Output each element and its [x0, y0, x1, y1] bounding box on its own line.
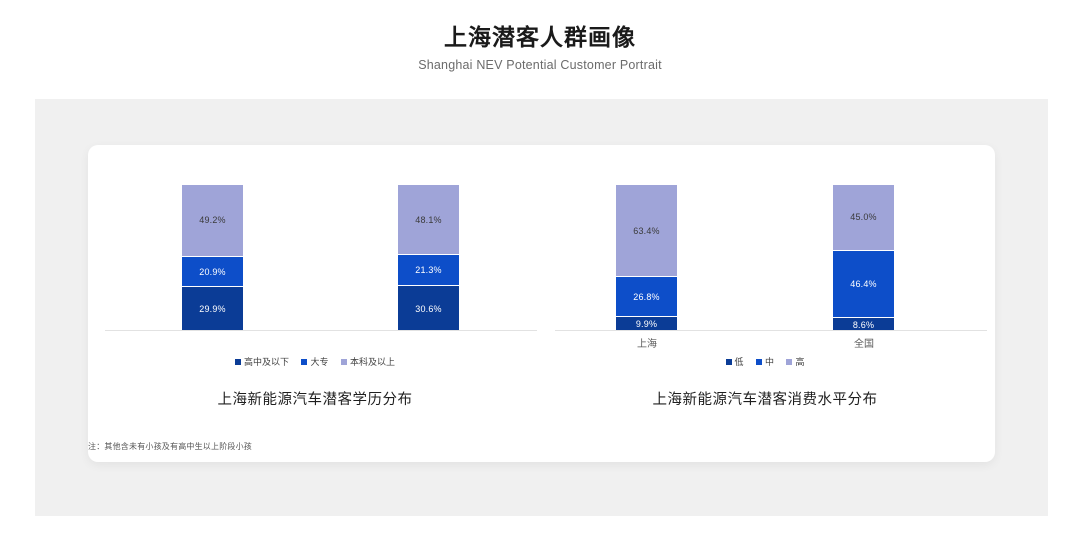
chart-2-legend: 低 中 高 — [545, 353, 985, 371]
page-subtitle: Shanghai NEV Potential Customer Portrait — [0, 55, 1080, 75]
chart-2-bar-2-segment-high[interactable]: 45.0% — [833, 185, 894, 251]
chart-1-legend: 高中及以下 大专 本科及以上 — [95, 353, 535, 371]
charts-row: 49.2% 20.9% 29.9% 48.1% 21.3% — [88, 145, 995, 462]
chart-2-legend-label-low: 低 — [735, 357, 744, 367]
chart-2-legend-item-mid[interactable]: 中 — [756, 355, 774, 368]
chart-1-bar-1-label-high: 49.2% — [199, 215, 226, 225]
chart-1-bar-1-label-low: 29.9% — [199, 304, 226, 314]
chart-1-bar-2-segment-high[interactable]: 48.1% — [398, 185, 459, 255]
chart-consumption-level-distribution: 63.4% 26.8% 9.9% 45.0% 46.4% — [545, 145, 985, 462]
chart-1-bar-2[interactable]: 48.1% 21.3% 30.6% — [398, 185, 459, 331]
chart-1-bar-1-segment-low[interactable]: 29.9% — [182, 287, 243, 331]
chart-1-legend-label-high: 本科及以上 — [350, 357, 395, 367]
chart-1-x-labels — [95, 333, 535, 351]
chart-2-legend-swatch-mid-icon — [756, 359, 762, 365]
chart-1-legend-label-mid: 大专 — [310, 357, 328, 367]
chart-2-bar-1-segment-low[interactable]: 9.9% — [616, 317, 677, 331]
chart-2-legend-label-high: 高 — [795, 357, 804, 367]
charts-card: 49.2% 20.9% 29.9% 48.1% 21.3% — [88, 145, 995, 462]
chart-1-plot-area: 49.2% 20.9% 29.9% 48.1% 21.3% — [95, 185, 535, 331]
chart-2-bar-2-segment-mid[interactable]: 46.4% — [833, 251, 894, 319]
chart-2-bar-1-label-low: 9.9% — [636, 319, 657, 329]
chart-1-bar-2-segment-low[interactable]: 30.6% — [398, 286, 459, 331]
chart-2-bar-1-label-mid: 26.8% — [633, 292, 660, 302]
chart-2-caption: 上海新能源汽车潜客消费水平分布 — [545, 388, 985, 409]
chart-1-legend-swatch-high-icon — [341, 359, 347, 365]
chart-2-bar-1-segment-high[interactable]: 63.4% — [616, 185, 677, 277]
chart-2-bar-1[interactable]: 63.4% 26.8% 9.9% — [616, 185, 677, 331]
chart-2-legend-item-high[interactable]: 高 — [786, 355, 804, 368]
page-title: 上海潜客人群画像 — [0, 22, 1080, 52]
chart-2-plot-area: 63.4% 26.8% 9.9% 45.0% 46.4% — [545, 185, 985, 331]
chart-1-bar-1-segment-high[interactable]: 49.2% — [182, 185, 243, 257]
chart-1-bar-1-segment-mid[interactable]: 20.9% — [182, 257, 243, 288]
chart-2-bar-1-label-high: 63.4% — [633, 226, 660, 236]
chart-1-bar-2-label-high: 48.1% — [415, 215, 442, 225]
chart-1-legend-label-low: 高中及以下 — [244, 357, 289, 367]
chart-2-x-label-shanghai: 上海 — [607, 335, 687, 350]
footnote: 注：其他含未有小孩及有高中生以上阶段小孩 — [88, 441, 252, 452]
chart-2-bar-1-segment-mid[interactable]: 26.8% — [616, 277, 677, 316]
chart-2-x-labels: 上海 全国 — [545, 333, 985, 351]
chart-1-bar-2-segment-mid[interactable]: 21.3% — [398, 255, 459, 286]
chart-2-legend-swatch-high-icon — [786, 359, 792, 365]
chart-2-x-label-national: 全国 — [824, 335, 904, 350]
chart-1-legend-swatch-mid-icon — [301, 359, 307, 365]
chart-2-bar-2-label-low: 8.6% — [853, 320, 874, 330]
chart-1-legend-swatch-low-icon — [235, 359, 241, 365]
page-header: 上海潜客人群画像 Shanghai NEV Potential Customer… — [0, 0, 1080, 75]
chart-2-bar-2-label-mid: 46.4% — [850, 279, 877, 289]
chart-2-bar-2[interactable]: 45.0% 46.4% 8.6% — [833, 185, 894, 331]
chart-1-bar-2-label-mid: 21.3% — [415, 265, 442, 275]
chart-2-axis-line — [555, 330, 987, 331]
chart-2-bar-2-label-high: 45.0% — [850, 212, 877, 222]
chart-1-bar-1-label-mid: 20.9% — [199, 267, 226, 277]
chart-1-legend-item-mid[interactable]: 大专 — [301, 355, 328, 368]
chart-1-legend-item-high[interactable]: 本科及以上 — [341, 355, 395, 368]
chart-1-caption: 上海新能源汽车潜客学历分布 — [95, 388, 535, 409]
chart-2-legend-label-mid: 中 — [765, 357, 774, 367]
chart-2-legend-item-low[interactable]: 低 — [726, 355, 744, 368]
chart-1-axis-line — [105, 330, 537, 331]
chart-education-distribution: 49.2% 20.9% 29.9% 48.1% 21.3% — [95, 145, 535, 462]
chart-1-legend-item-low[interactable]: 高中及以下 — [235, 355, 289, 368]
chart-1-bar-1[interactable]: 49.2% 20.9% 29.9% — [182, 185, 243, 331]
chart-1-bar-2-label-low: 30.6% — [415, 304, 442, 314]
chart-2-legend-swatch-low-icon — [726, 359, 732, 365]
